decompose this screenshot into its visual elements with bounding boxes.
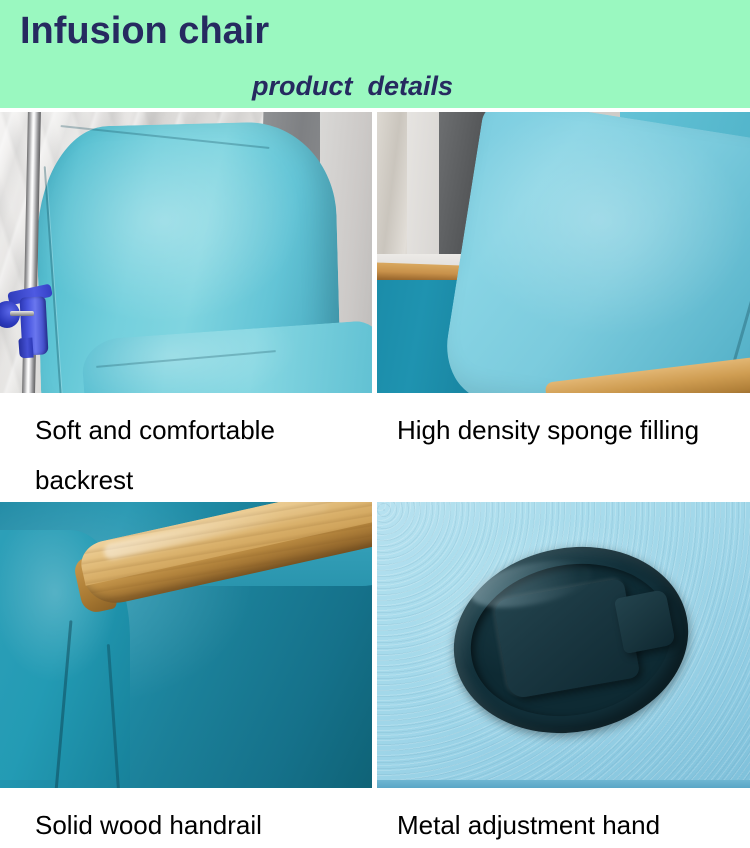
photo-sponge-filling bbox=[377, 112, 750, 393]
detail-cell-wood-handrail: Solid wood handrail bbox=[0, 502, 372, 848]
iv-clamp-foot bbox=[18, 338, 33, 359]
detail-cell-sponge-filling: High density sponge filling bbox=[377, 112, 750, 455]
detail-cell-soft-backrest: Soft and comfortable backrest bbox=[0, 112, 372, 505]
caption-sponge-filling: High density sponge filling bbox=[397, 405, 750, 455]
caption-soft-backrest: Soft and comfortable backrest bbox=[35, 405, 372, 505]
sponge-cushion bbox=[439, 112, 750, 393]
detail-cell-metal-adjustment-hand: Metal adjustment hand bbox=[377, 502, 750, 848]
photo-wood-handrail bbox=[0, 502, 372, 788]
caption-wood-handrail: Solid wood handrail bbox=[35, 800, 372, 848]
page-header: Infusion chair product details bbox=[0, 0, 750, 108]
photo-metal-adjustment-hand bbox=[377, 502, 750, 788]
photo-soft-backrest bbox=[0, 112, 372, 393]
iv-clamp-screw bbox=[10, 311, 34, 316]
leather-bottom-edge bbox=[377, 780, 750, 788]
page-subtitle: product details bbox=[252, 70, 453, 102]
caption-metal-adjustment-hand: Metal adjustment hand bbox=[397, 800, 750, 848]
handle-lever-tab bbox=[614, 589, 676, 654]
page-title: Infusion chair bbox=[20, 8, 269, 54]
product-detail-page: Infusion chair product details bbox=[0, 0, 750, 848]
